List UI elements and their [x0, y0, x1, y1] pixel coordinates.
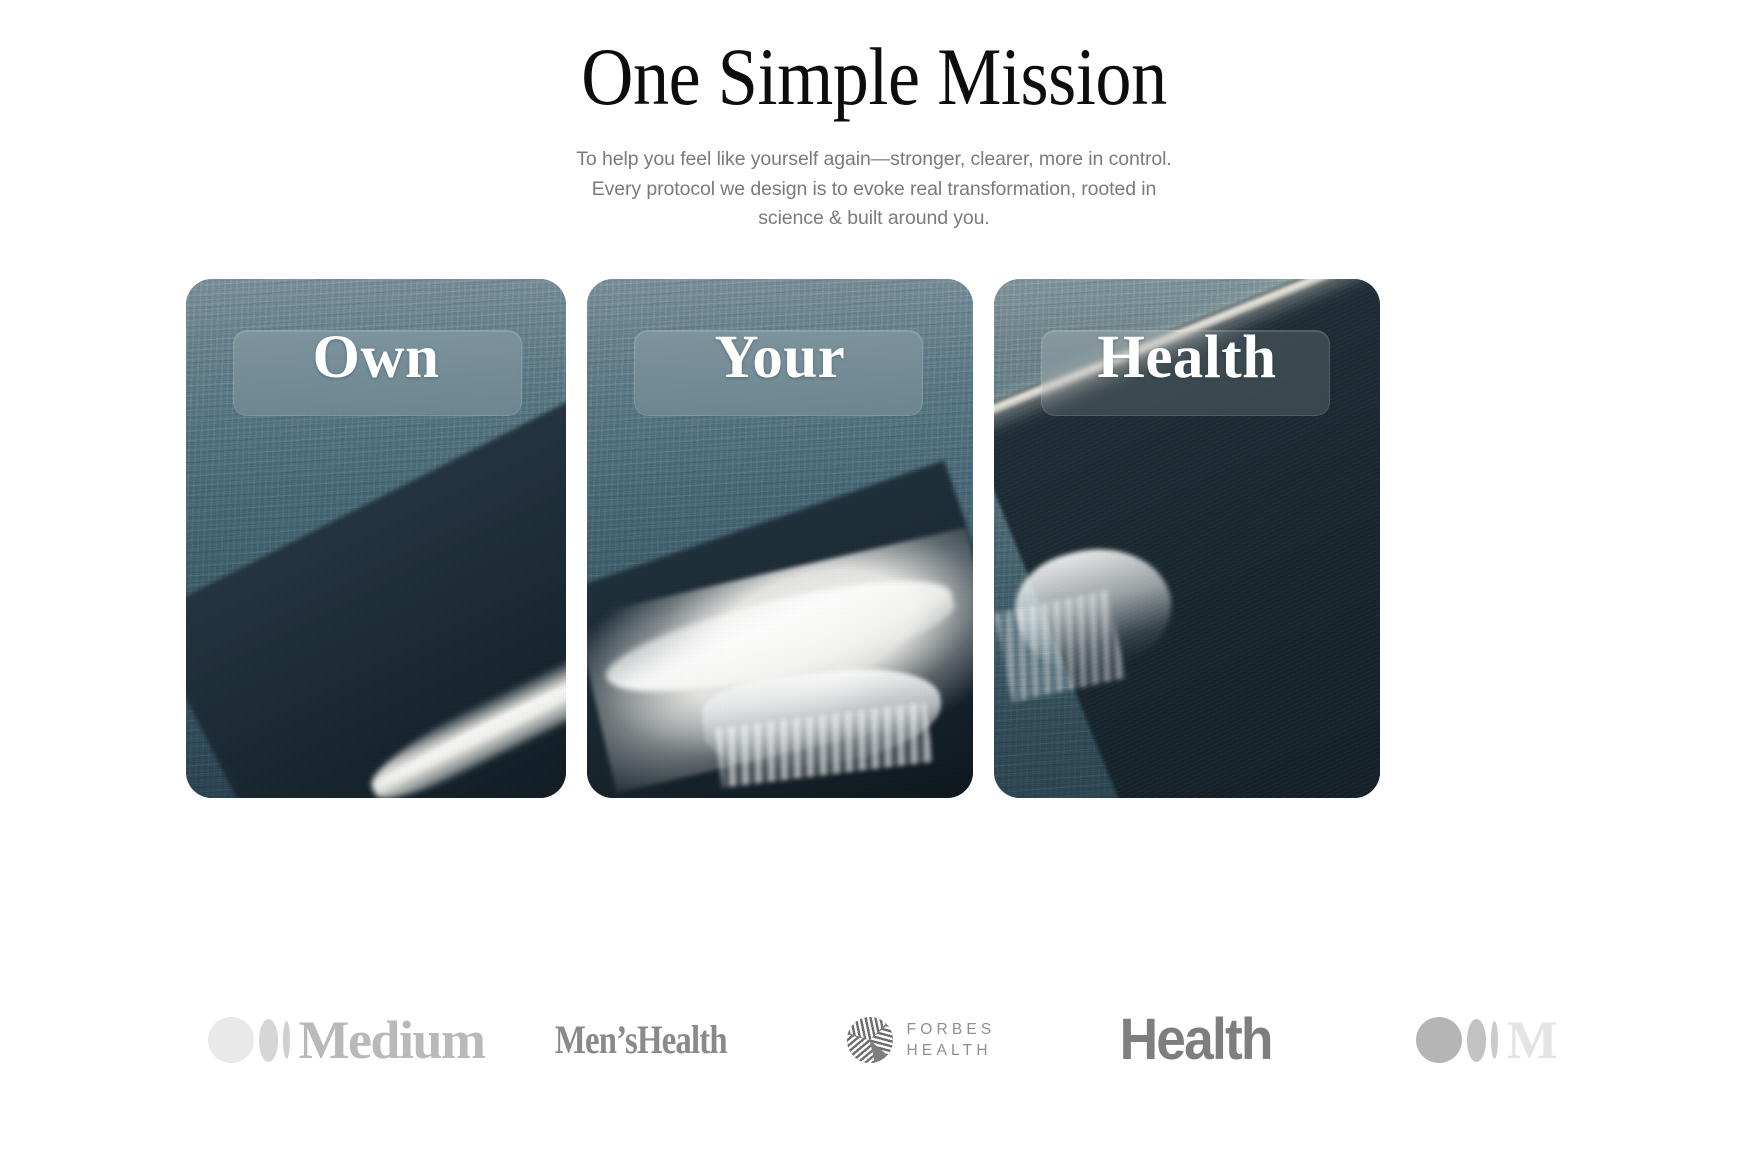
- subtitle-line-1: To help you feel like yourself again—str…: [576, 148, 1171, 170]
- mens-health-wordmark: Men’sHealth: [555, 1020, 727, 1060]
- card-word-own: Own: [186, 327, 566, 388]
- subtitle-line-2: Every protocol we design is to evoke rea…: [592, 178, 1157, 200]
- subtitle-line-3: science & built around you.: [758, 207, 989, 229]
- card-word-health: Health: [994, 327, 1380, 388]
- mission-card-your[interactable]: Your: [587, 279, 973, 798]
- section-subtitle: To help you feel like yourself again—str…: [554, 145, 1194, 234]
- press-logo-strip: Medium Men’sHealth FORBES HEALTH: [0, 985, 1748, 1095]
- section-header: One Simple Mission To help you feel like…: [0, 0, 1748, 234]
- mission-card-own[interactable]: Own: [186, 279, 566, 798]
- forbes-word-1: FORBES: [907, 1022, 996, 1038]
- logo-mens-health: Men’sHealth: [496, 1020, 786, 1060]
- mission-card-health[interactable]: Health: [994, 279, 1380, 798]
- logo-medium: Medium: [196, 1013, 496, 1067]
- mission-card-row: Own Your: [186, 279, 1590, 798]
- medium-dots-icon: [1416, 1017, 1498, 1063]
- forbes-pinwheel-icon: [847, 1017, 893, 1063]
- medium-wordmark: Medium: [299, 1013, 485, 1067]
- card-word-your: Your: [587, 327, 973, 388]
- medium-dots-icon: [208, 1017, 290, 1063]
- page-title: One Simple Mission: [105, 34, 1643, 120]
- mission-section: One Simple Mission To help you feel like…: [0, 0, 1748, 1155]
- logo-medium-repeat: M: [1336, 1013, 1636, 1067]
- health-wordmark: Health: [1120, 1011, 1272, 1069]
- logo-forbes-health: FORBES HEALTH: [786, 1017, 1056, 1063]
- medium-wordmark-partial: M: [1507, 1013, 1556, 1067]
- logo-health: Health: [1056, 1011, 1336, 1069]
- forbes-word-2: HEALTH: [907, 1043, 996, 1059]
